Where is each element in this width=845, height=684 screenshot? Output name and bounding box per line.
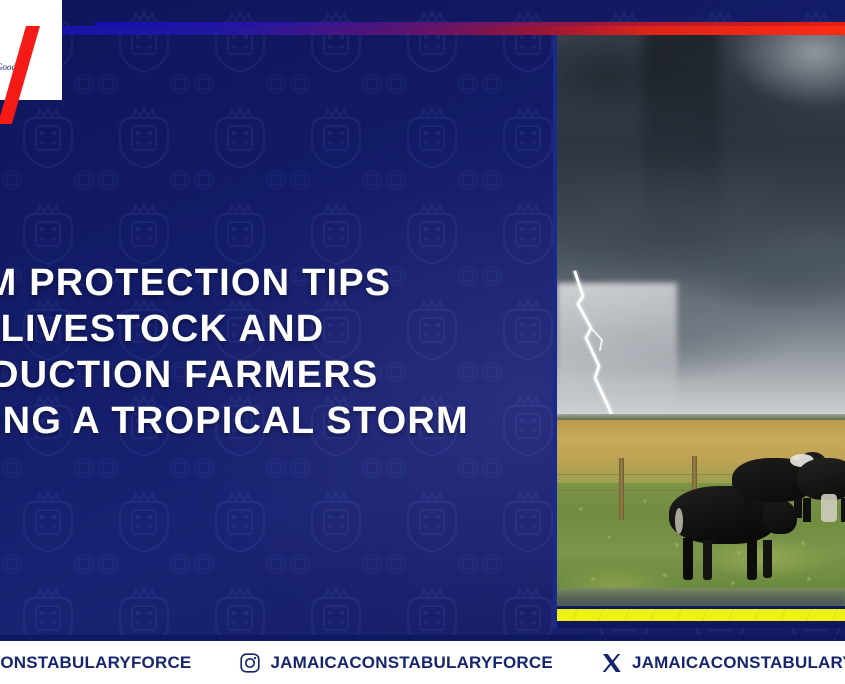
headline-line-2: FOR LIVESTOCK AND [0,306,545,352]
dark-cloud-streak [643,28,721,238]
poster-canvas: Good FARM PROTECTION TIPS FOR LIVESTOCK … [0,0,845,684]
bright-cloud-break [730,28,845,108]
headline-line-4: DURING A TROPICAL STORM [0,398,545,444]
facebook-handle: JAMAICACONSTABULARYFORCE [0,653,191,673]
social-item-facebook[interactable]: JAMAICACONSTABULARYFORCE [0,652,191,674]
fence-post [619,458,624,520]
headline-line-1: FARM PROTECTION TIPS [0,260,545,306]
instagram-icon[interactable] [239,652,261,674]
social-media-bar: JAMAICACONSTABULARYFORCE JAMAICACONSTABU… [0,641,845,684]
x-handle: JAMAICACONSTABULARYFORCE [632,653,845,673]
social-item-x[interactable]: JAMAICACONSTABULARYFORCE [601,652,845,674]
headline: FARM PROTECTION TIPS FOR LIVESTOCK AND P… [0,260,545,444]
headline-line-3: PRODUCTION FARMERS [0,352,545,398]
instagram-handle: JAMAICACONSTABULARYFORCE [270,653,552,673]
storm-over-cattle-pasture-photo [557,28,845,628]
social-item-instagram[interactable]: JAMAICACONSTABULARYFORCE [239,652,552,674]
fence-wire [557,474,732,475]
gradient-rule [50,26,845,35]
photo-left-border [553,28,557,628]
x-twitter-icon[interactable] [601,652,623,674]
cow-background-right [797,454,845,524]
road-strip [557,588,845,606]
lightning-bolt-icon [569,270,639,420]
hazard-tape-strip [557,606,845,628]
